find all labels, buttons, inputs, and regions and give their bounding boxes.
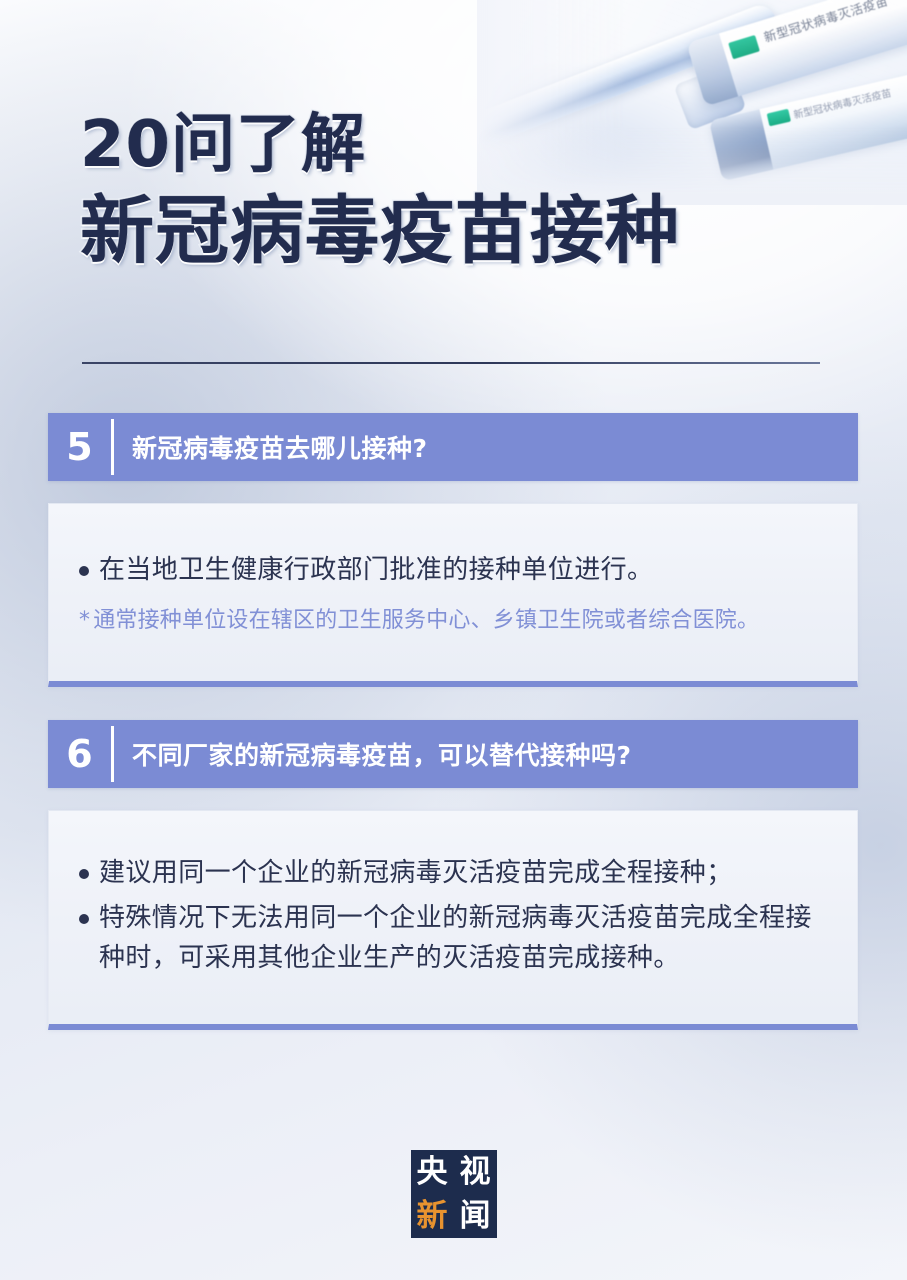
vial-label-text: 新型冠状病毒灭活疫苗: [762, 0, 907, 47]
question-text-5: 新冠病毒疫苗去哪儿接种?: [114, 413, 858, 481]
answer-bullet: 特殊情况下无法用同一个企业的新冠病毒灭活疫苗完成全程接种时，可采用其他企业生产的…: [79, 898, 833, 979]
question-number-6: 6: [48, 720, 111, 788]
qa-block-5: 5 新冠病毒疫苗去哪儿接种? 在当地卫生健康行政部门批准的接种单位进行。 * 通…: [48, 413, 858, 687]
answer-note-5: * 通常接种单位设在辖区的卫生服务中心、乡镇卫生院或者综合医院。: [79, 604, 833, 637]
note-asterisk-icon: *: [79, 604, 90, 637]
bullet-text: 建议用同一个企业的新冠病毒灭活疫苗完成全程接种；: [99, 853, 833, 893]
poster-title: 20问了解 新冠病毒疫苗接种: [80, 112, 840, 270]
title-line-1: 20问了解: [80, 112, 840, 179]
infographic-poster: 新型冠状病毒灭活疫苗 新型冠状病毒灭活疫苗 20问了解 新冠病毒疫苗接种 5 新…: [0, 0, 907, 1280]
vial-cap-icon: [686, 33, 738, 106]
note-text: 通常接种单位设在辖区的卫生服务中心、乡镇卫生院或者综合医院。: [93, 604, 759, 637]
answer-bullet: 在当地卫生健康行政部门批准的接种单位进行。: [79, 550, 833, 590]
qa-block-6: 6 不同厂家的新冠病毒疫苗，可以替代接种吗? 建议用同一个企业的新冠病毒灭活疫苗…: [48, 720, 858, 1030]
logo-char-xin: 新: [417, 1201, 448, 1232]
question-text-6: 不同厂家的新冠病毒疫苗，可以替代接种吗?: [114, 720, 858, 788]
logo-char-shi: 视: [460, 1157, 491, 1188]
bullet-text: 特殊情况下无法用同一个企业的新冠病毒灭活疫苗完成全程接种时，可采用其他企业生产的…: [99, 898, 833, 979]
question-header-5[interactable]: 5 新冠病毒疫苗去哪儿接种?: [48, 413, 858, 481]
qa-list: 5 新冠病毒疫苗去哪儿接种? 在当地卫生健康行政部门批准的接种单位进行。 * 通…: [48, 413, 858, 1063]
answer-card-6: 建议用同一个企业的新冠病毒灭活疫苗完成全程接种； 特殊情况下无法用同一个企业的新…: [48, 810, 858, 1030]
bullet-dot-icon: [79, 566, 89, 576]
vaccine-vial-primary: 新型冠状病毒灭活疫苗: [686, 0, 907, 106]
logo-char-wen: 闻: [460, 1201, 491, 1232]
question-header-6[interactable]: 6 不同厂家的新冠病毒疫苗，可以替代接种吗?: [48, 720, 858, 788]
question-number-5: 5: [48, 413, 111, 481]
answer-card-5: 在当地卫生健康行政部门批准的接种单位进行。 * 通常接种单位设在辖区的卫生服务中…: [48, 503, 858, 687]
title-divider: [82, 362, 820, 364]
title-line-2: 新冠病毒疫苗接种: [80, 193, 840, 270]
logo-char-yang: 央: [417, 1157, 448, 1188]
bullet-dot-icon: [79, 914, 89, 924]
answer-bullet: 建议用同一个企业的新冠病毒灭活疫苗完成全程接种；: [79, 853, 833, 893]
bullet-text: 在当地卫生健康行政部门批准的接种单位进行。: [99, 550, 833, 590]
bullet-dot-icon: [79, 869, 89, 879]
cctv-news-logo: 央 视 新 闻: [411, 1150, 497, 1238]
vial-green-marker: [728, 35, 760, 59]
